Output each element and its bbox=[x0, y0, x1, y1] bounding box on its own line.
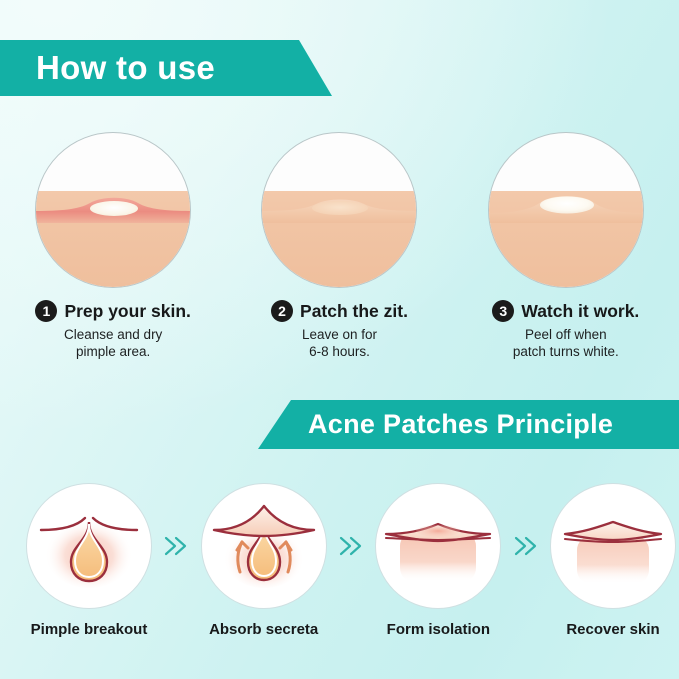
how-to-use-banner: How to use bbox=[0, 40, 332, 96]
pimple-icon bbox=[35, 189, 191, 223]
step-3-title: Watch it work. bbox=[521, 301, 639, 322]
separator-chevron-3 bbox=[504, 483, 547, 609]
how-to-use-steps: 1 Prep your skin. Cleanse and dry pimple… bbox=[0, 132, 679, 362]
stage-2-illustration bbox=[201, 483, 327, 609]
step-3-number-badge: 3 bbox=[492, 300, 514, 322]
step-3: 3 Watch it work. Peel off when patch tur… bbox=[453, 132, 679, 362]
step-2-illustration bbox=[261, 132, 417, 288]
stage-2-label: Absorb secreta bbox=[209, 621, 318, 638]
double-chevron-right-icon bbox=[338, 535, 364, 557]
stage-4-label: Recover skin bbox=[566, 621, 659, 638]
stage-2: Absorb secreta bbox=[198, 483, 330, 638]
separator-chevron-2 bbox=[330, 483, 373, 609]
patch-on-skin-icon bbox=[261, 189, 417, 223]
stage-3-illustration bbox=[375, 483, 501, 609]
step-2-number-badge: 2 bbox=[271, 300, 293, 322]
acne-principle-banner: Acne Patches Principle bbox=[258, 400, 679, 449]
stage-1-label: Pimple breakout bbox=[31, 621, 148, 638]
step-2-title: Patch the zit. bbox=[300, 301, 408, 322]
step-1-illustration bbox=[35, 132, 191, 288]
step-1-title: Prep your skin. bbox=[64, 301, 190, 322]
step-1-subtitle: Cleanse and dry pimple area. bbox=[64, 326, 162, 361]
step-3-illustration bbox=[488, 132, 644, 288]
stage-1-illustration bbox=[26, 483, 152, 609]
step-2-subtitle: Leave on for 6-8 hours. bbox=[302, 326, 377, 361]
patch-absorbing-arrows-icon bbox=[202, 484, 326, 608]
step-1: 1 Prep your skin. Cleanse and dry pimple… bbox=[0, 132, 226, 362]
smooth-recovered-skin-icon bbox=[551, 484, 675, 608]
separator-chevron-1 bbox=[155, 483, 198, 609]
stage-1: Pimple breakout bbox=[23, 483, 155, 638]
stage-3-label: Form isolation bbox=[387, 621, 490, 638]
stage-3: Form isolation bbox=[372, 483, 504, 638]
pore-with-sebum-icon bbox=[27, 484, 151, 608]
double-chevron-right-icon bbox=[163, 535, 189, 557]
stage-4-illustration bbox=[550, 483, 676, 609]
step-1-label-row: 1 Prep your skin. bbox=[35, 300, 190, 322]
step-1-number-badge: 1 bbox=[35, 300, 57, 322]
double-chevron-right-icon bbox=[513, 535, 539, 557]
step-2: 2 Patch the zit. Leave on for 6-8 hours. bbox=[226, 132, 452, 362]
how-to-use-title: How to use bbox=[36, 49, 215, 87]
white-patch-icon bbox=[488, 189, 644, 223]
acne-principle-title: Acne Patches Principle bbox=[308, 409, 613, 440]
stage-4: Recover skin bbox=[547, 483, 679, 638]
step-2-label-row: 2 Patch the zit. bbox=[271, 300, 408, 322]
step-3-subtitle: Peel off when patch turns white. bbox=[513, 326, 619, 361]
step-3-label-row: 3 Watch it work. bbox=[492, 300, 639, 322]
infographic-page: How to use bbox=[0, 0, 679, 679]
acne-principle-stages: Pimple breakout bbox=[0, 483, 679, 653]
patch-flat-isolation-icon bbox=[376, 484, 500, 608]
